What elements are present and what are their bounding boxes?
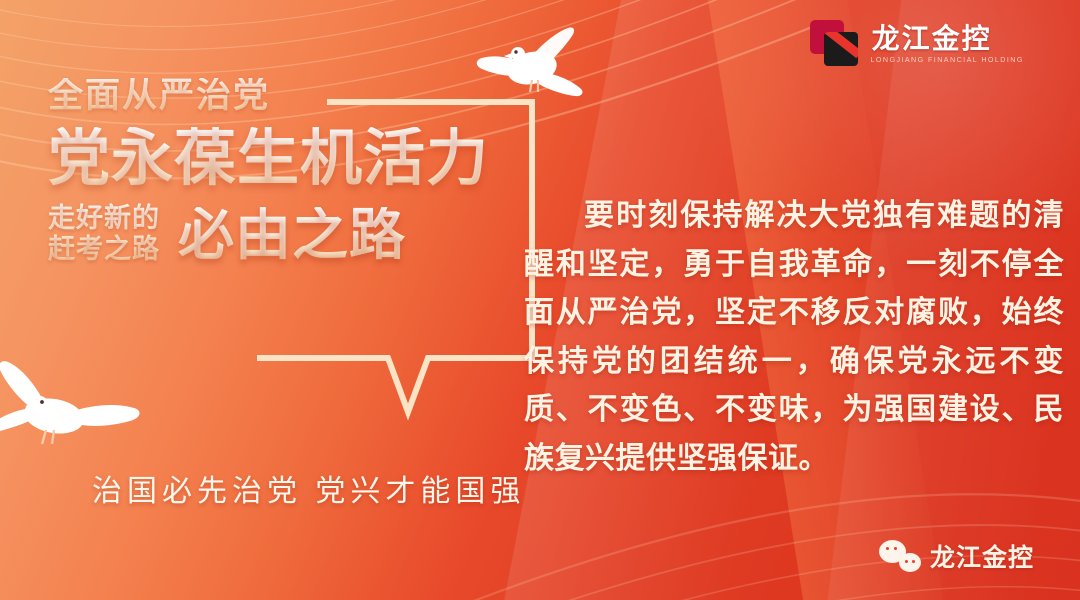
wechat-account-badge: 龙江金控 xyxy=(879,538,1034,574)
logo-wordmark: 龙江金控 LONGJIANG FINANCIAL HOLDING xyxy=(872,25,1022,64)
peace-dove-icon xyxy=(0,352,146,472)
headline-eyebrow: 全面从严治党 xyxy=(48,78,270,113)
wechat-icon xyxy=(879,540,921,572)
wechat-account-name: 龙江金控 xyxy=(930,538,1034,574)
company-logo: 龙江金控 LONGJIANG FINANCIAL HOLDING xyxy=(810,18,1022,70)
headline-accent: 必由之路 xyxy=(178,207,406,263)
logo-mark-icon xyxy=(810,18,862,70)
headline-subline-2: 赶考之路 xyxy=(48,234,160,265)
logo-name-en: LONGJIANG FINANCIAL HOLDING xyxy=(870,57,1023,64)
headline-subline: 走好新的 赶考之路 xyxy=(48,203,160,265)
headline-main: 党永葆生机活力 xyxy=(48,127,489,191)
body-paragraph: 要时刻保持解决大党独有难题的清醒和坚定，勇于自我革命，一刻不停全面从严治党，坚定… xyxy=(524,192,1064,484)
logo-name-cn: 龙江金控 xyxy=(872,25,1022,53)
headline-block: 全面从严治党 党永葆生机活力 走好新的 赶考之路 必由之路 xyxy=(48,78,518,265)
poster-canvas: 龙江金控 LONGJIANG FINANCIAL HOLDING 全面从严治党 … xyxy=(0,0,1080,600)
headline-subline-1: 走好新的 xyxy=(48,203,160,234)
bottom-slogan: 治国必先治党 党兴才能国强 xyxy=(92,466,525,510)
